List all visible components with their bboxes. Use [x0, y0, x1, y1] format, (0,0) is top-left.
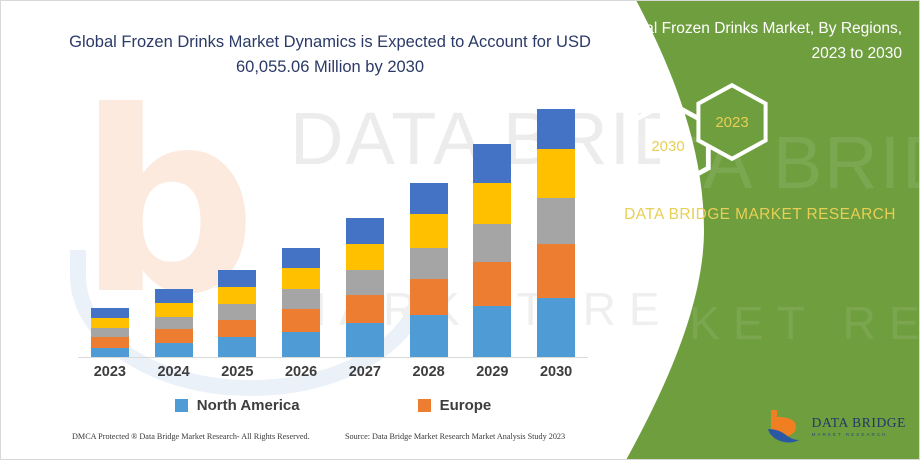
bar-segment[interactable]	[473, 262, 511, 306]
stacked-bar[interactable]	[473, 144, 511, 357]
stacked-bar[interactable]	[410, 183, 448, 357]
hexagon-badge-2023: 2023	[692, 82, 772, 162]
bar-slot	[142, 96, 206, 357]
legend-swatch-icon	[175, 399, 188, 412]
bar-segment[interactable]	[346, 218, 384, 244]
bar-segment[interactable]	[91, 328, 129, 337]
x-axis-tick-label: 2025	[206, 364, 270, 388]
x-axis-tick-label: 2026	[269, 364, 333, 388]
x-axis-tick-label: 2028	[397, 364, 461, 388]
bar-segment[interactable]	[473, 183, 511, 224]
green-watermark-bottom: MARKET RESEARCH	[600, 296, 920, 350]
bar-segment[interactable]	[282, 248, 320, 269]
logo-mark-icon	[765, 407, 805, 447]
bar-segment[interactable]	[537, 109, 575, 149]
stacked-bar[interactable]	[218, 270, 256, 357]
bar-slot	[206, 96, 270, 357]
bar-segment[interactable]	[91, 318, 129, 328]
bar-segment[interactable]	[155, 329, 193, 343]
hexagon-label-2023: 2023	[692, 82, 772, 162]
x-axis-labels: 20232024202520262027202820292030	[78, 364, 588, 388]
bar-segment[interactable]	[346, 323, 384, 357]
logo-text: DATA BRIDGE MARKET RESEARCH	[812, 416, 906, 437]
stacked-bar[interactable]	[282, 248, 320, 357]
stacked-bar[interactable]	[537, 109, 575, 357]
infographic-root: b DATA BRIDGE MARKET RESEARCH Global Fro…	[0, 0, 920, 460]
footer: DMCA Protected ® Data Bridge Market Rese…	[0, 432, 620, 452]
stacked-bar[interactable]	[155, 289, 193, 357]
x-axis-tick-label: 2024	[142, 364, 206, 388]
legend-item[interactable]: North America	[175, 397, 300, 414]
bar-slot	[397, 96, 461, 357]
bar-segment[interactable]	[410, 214, 448, 248]
bar-segment[interactable]	[473, 144, 511, 183]
x-axis-tick-label: 2030	[524, 364, 588, 388]
bar-segment[interactable]	[282, 268, 320, 289]
bar-segment[interactable]	[155, 303, 193, 317]
x-axis-tick-label: 2023	[78, 364, 142, 388]
bar-segment[interactable]	[473, 224, 511, 262]
bar-segment[interactable]	[218, 287, 256, 304]
green-panel-title: Global Frozen Drinks Market, By Regions,…	[612, 16, 908, 66]
legend-label: North America	[197, 397, 300, 414]
data-bridge-logo: DATA BRIDGE MARKET RESEARCH	[765, 406, 906, 448]
green-panel-content: DATA BRIDGE MARKET RESEARCH Global Froze…	[600, 0, 920, 460]
legend-swatch-icon	[418, 399, 431, 412]
logo-subtitle: MARKET RESEARCH	[812, 433, 906, 438]
hexagon-badges: 2030 2023	[600, 84, 920, 194]
bar-segment[interactable]	[218, 337, 256, 357]
bar-segment[interactable]	[537, 198, 575, 245]
bar-segment[interactable]	[91, 308, 129, 318]
bar-segment[interactable]	[410, 248, 448, 279]
green-panel-brand: DATA BRIDGE MARKET RESEARCH	[620, 202, 900, 227]
stacked-bar-chart	[78, 96, 588, 358]
chart-bars	[78, 96, 588, 357]
bar-segment[interactable]	[218, 320, 256, 338]
bar-segment[interactable]	[91, 348, 129, 357]
stacked-bar[interactable]	[346, 218, 384, 357]
bar-segment[interactable]	[218, 304, 256, 320]
bar-segment[interactable]	[282, 332, 320, 357]
x-axis-tick-label: 2029	[461, 364, 525, 388]
bar-segment[interactable]	[155, 343, 193, 357]
bar-segment[interactable]	[410, 315, 448, 357]
footer-dmca-text: DMCA Protected ® Data Bridge Market Rese…	[72, 432, 310, 441]
logo-name: DATA BRIDGE	[812, 416, 906, 430]
bar-segment[interactable]	[346, 295, 384, 324]
bar-segment[interactable]	[537, 244, 575, 298]
green-side-panel: DATA BRIDGE MARKET RESEARCH Global Froze…	[600, 0, 920, 460]
bar-segment[interactable]	[346, 244, 384, 270]
bar-segment[interactable]	[282, 289, 320, 309]
bar-slot	[524, 96, 588, 357]
x-axis-tick-label: 2027	[333, 364, 397, 388]
bar-slot	[461, 96, 525, 357]
bar-segment[interactable]	[218, 270, 256, 287]
chart-legend: North AmericaEurope	[78, 392, 588, 418]
bar-segment[interactable]	[346, 270, 384, 294]
bar-slot	[269, 96, 333, 357]
x-axis-line	[78, 357, 588, 358]
bar-segment[interactable]	[537, 298, 575, 357]
bar-segment[interactable]	[282, 309, 320, 332]
footer-source-text: Source: Data Bridge Market Research Mark…	[345, 432, 565, 441]
legend-label: Europe	[440, 397, 492, 414]
bar-segment[interactable]	[410, 279, 448, 315]
bar-slot	[78, 96, 142, 357]
bar-segment[interactable]	[410, 183, 448, 215]
page-title: Global Frozen Drinks Market Dynamics is …	[60, 30, 600, 80]
bar-segment[interactable]	[91, 337, 129, 347]
stacked-bar[interactable]	[91, 308, 129, 357]
bar-segment[interactable]	[473, 306, 511, 357]
bar-segment[interactable]	[155, 317, 193, 329]
bar-segment[interactable]	[537, 149, 575, 197]
bar-slot	[333, 96, 397, 357]
bar-segment[interactable]	[155, 289, 193, 303]
legend-item[interactable]: Europe	[418, 397, 492, 414]
